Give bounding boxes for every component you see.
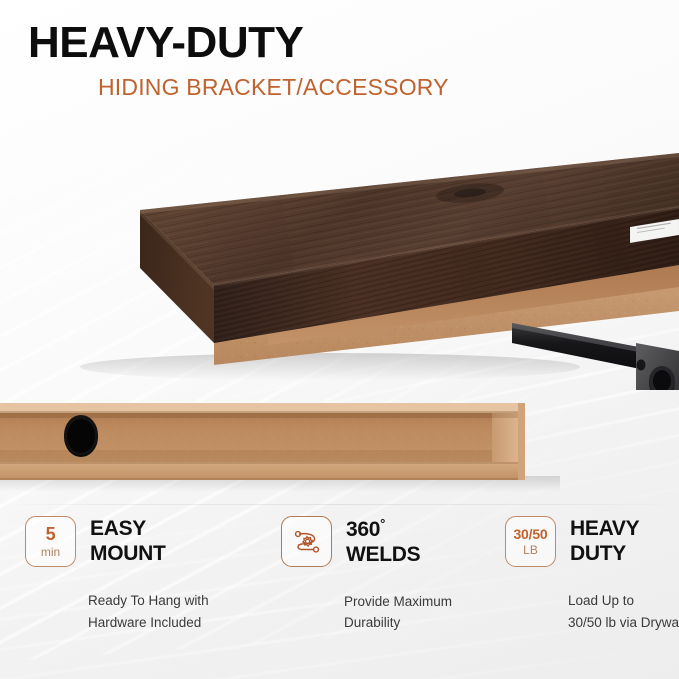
product-infographic: HEAVY-DUTY HIDING BRACKET/ACCESSORY bbox=[0, 0, 679, 679]
shelf-shadow bbox=[80, 353, 580, 381]
feature-desc-line2: Durability bbox=[344, 612, 465, 634]
feature-top-row: 360° WELDS bbox=[281, 516, 465, 568]
feature-top-row: 5 min EASY MOUNT bbox=[25, 516, 253, 567]
feature-heading: HEAVY DUTY bbox=[570, 516, 639, 567]
feature-description: Load Up to 30/50 lb via Drywall bbox=[505, 567, 679, 634]
channel-top-rail bbox=[0, 403, 525, 412]
feature-360-welds: 360° WELDS Provide Maximum Durability bbox=[253, 516, 465, 679]
feature-easy-mount: 5 min EASY MOUNT Ready To Hang with Hard… bbox=[0, 516, 253, 679]
feature-heading-line1: EASY bbox=[90, 517, 146, 540]
feature-heading-line2: DUTY bbox=[570, 542, 639, 567]
feature-heading-line1: HEAVY bbox=[570, 517, 639, 540]
shelf-illustration bbox=[0, 115, 679, 390]
header: HEAVY-DUTY HIDING BRACKET/ACCESSORY bbox=[0, 0, 679, 99]
feature-heading: 360° WELDS bbox=[346, 516, 420, 568]
degree-symbol: ° bbox=[380, 516, 385, 531]
channel-illustration bbox=[0, 388, 679, 503]
badge-main-value: 30/50 bbox=[513, 527, 547, 541]
badge-sub-value: LB bbox=[523, 544, 538, 556]
feature-heading: EASY MOUNT bbox=[90, 516, 166, 567]
channel-right-end-wall bbox=[492, 413, 518, 462]
badge-30-50-lb: 30/50 LB bbox=[505, 516, 556, 567]
badge-weld-icon bbox=[281, 516, 332, 567]
channel-bottom-rail bbox=[0, 462, 525, 480]
feature-desc-line1: Ready To Hang with bbox=[88, 593, 209, 608]
feature-heavy-duty: 30/50 LB HEAVY DUTY Load Up to 30/50 lb … bbox=[465, 516, 679, 679]
hero-product-image bbox=[0, 115, 679, 390]
feature-description: Ready To Hang with Hardware Included bbox=[25, 567, 253, 634]
feature-desc-line1: Load Up to bbox=[568, 593, 634, 608]
feature-description: Provide Maximum Durability bbox=[281, 568, 465, 635]
section-divider bbox=[0, 504, 679, 505]
badge-5-min: 5 min bbox=[25, 516, 76, 567]
feature-top-row: 30/50 LB HEAVY DUTY bbox=[505, 516, 679, 567]
bracket-mounting-plate bbox=[636, 343, 679, 390]
page-subtitle: HIDING BRACKET/ACCESSORY bbox=[0, 65, 679, 99]
feature-desc-line2: 30/50 lb via Drywall bbox=[568, 612, 679, 634]
channel-closeup-image bbox=[0, 388, 679, 503]
feature-heading-line1: 360 bbox=[346, 518, 380, 541]
feature-desc-line1: Provide Maximum bbox=[344, 594, 452, 609]
badge-sub-value: min bbox=[41, 546, 60, 558]
feature-heading-line2: WELDS bbox=[346, 543, 420, 568]
badge-main-value: 5 bbox=[46, 525, 56, 543]
feature-heading-line2: MOUNT bbox=[90, 542, 166, 567]
feature-desc-line2: Hardware Included bbox=[88, 612, 253, 634]
feature-list: 5 min EASY MOUNT Ready To Hang with Hard… bbox=[0, 516, 679, 679]
hiding-bracket bbox=[512, 323, 679, 390]
weld-path-icon bbox=[292, 528, 322, 556]
page-title: HEAVY-DUTY bbox=[0, 0, 679, 65]
